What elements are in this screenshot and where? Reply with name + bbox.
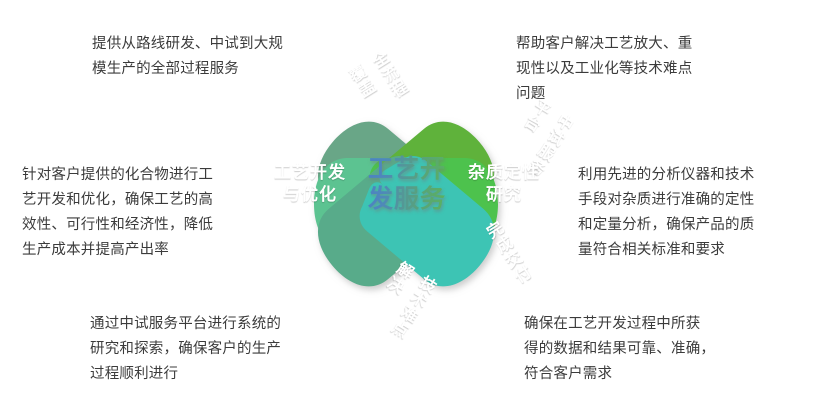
description-left: 针对客户提供的化合物进行工 艺开发和优化，确保工艺的高 效性、可行性和经济性，降… [22,163,272,263]
petal-label-impurity-qualitative-research: 杂质定性 研究 [456,162,552,207]
description-bottom-right: 确保在工艺开发过程中所获 得的数据和结果可靠、准确， 符合客户需求 [524,312,776,387]
center-title: 工艺开 发服务 [352,155,462,214]
flower-diagram: 全流程 覆盖 中试服务 平台 技术难点 解决 完成交付 工艺开发 与优化 杂质定… [256,52,556,357]
description-right: 利用先进的分析仪器和技术 手段对杂质进行准确的定性 和定量分析，确保产品的质 量… [578,163,817,263]
petal-label-process-development-optimization: 工艺开发 与优化 [262,162,358,207]
infographic-canvas: 提供从路线研发、中试到大规 模生产的全部过程服务 帮助客户解决工艺放大、重 现性… [0,0,817,412]
